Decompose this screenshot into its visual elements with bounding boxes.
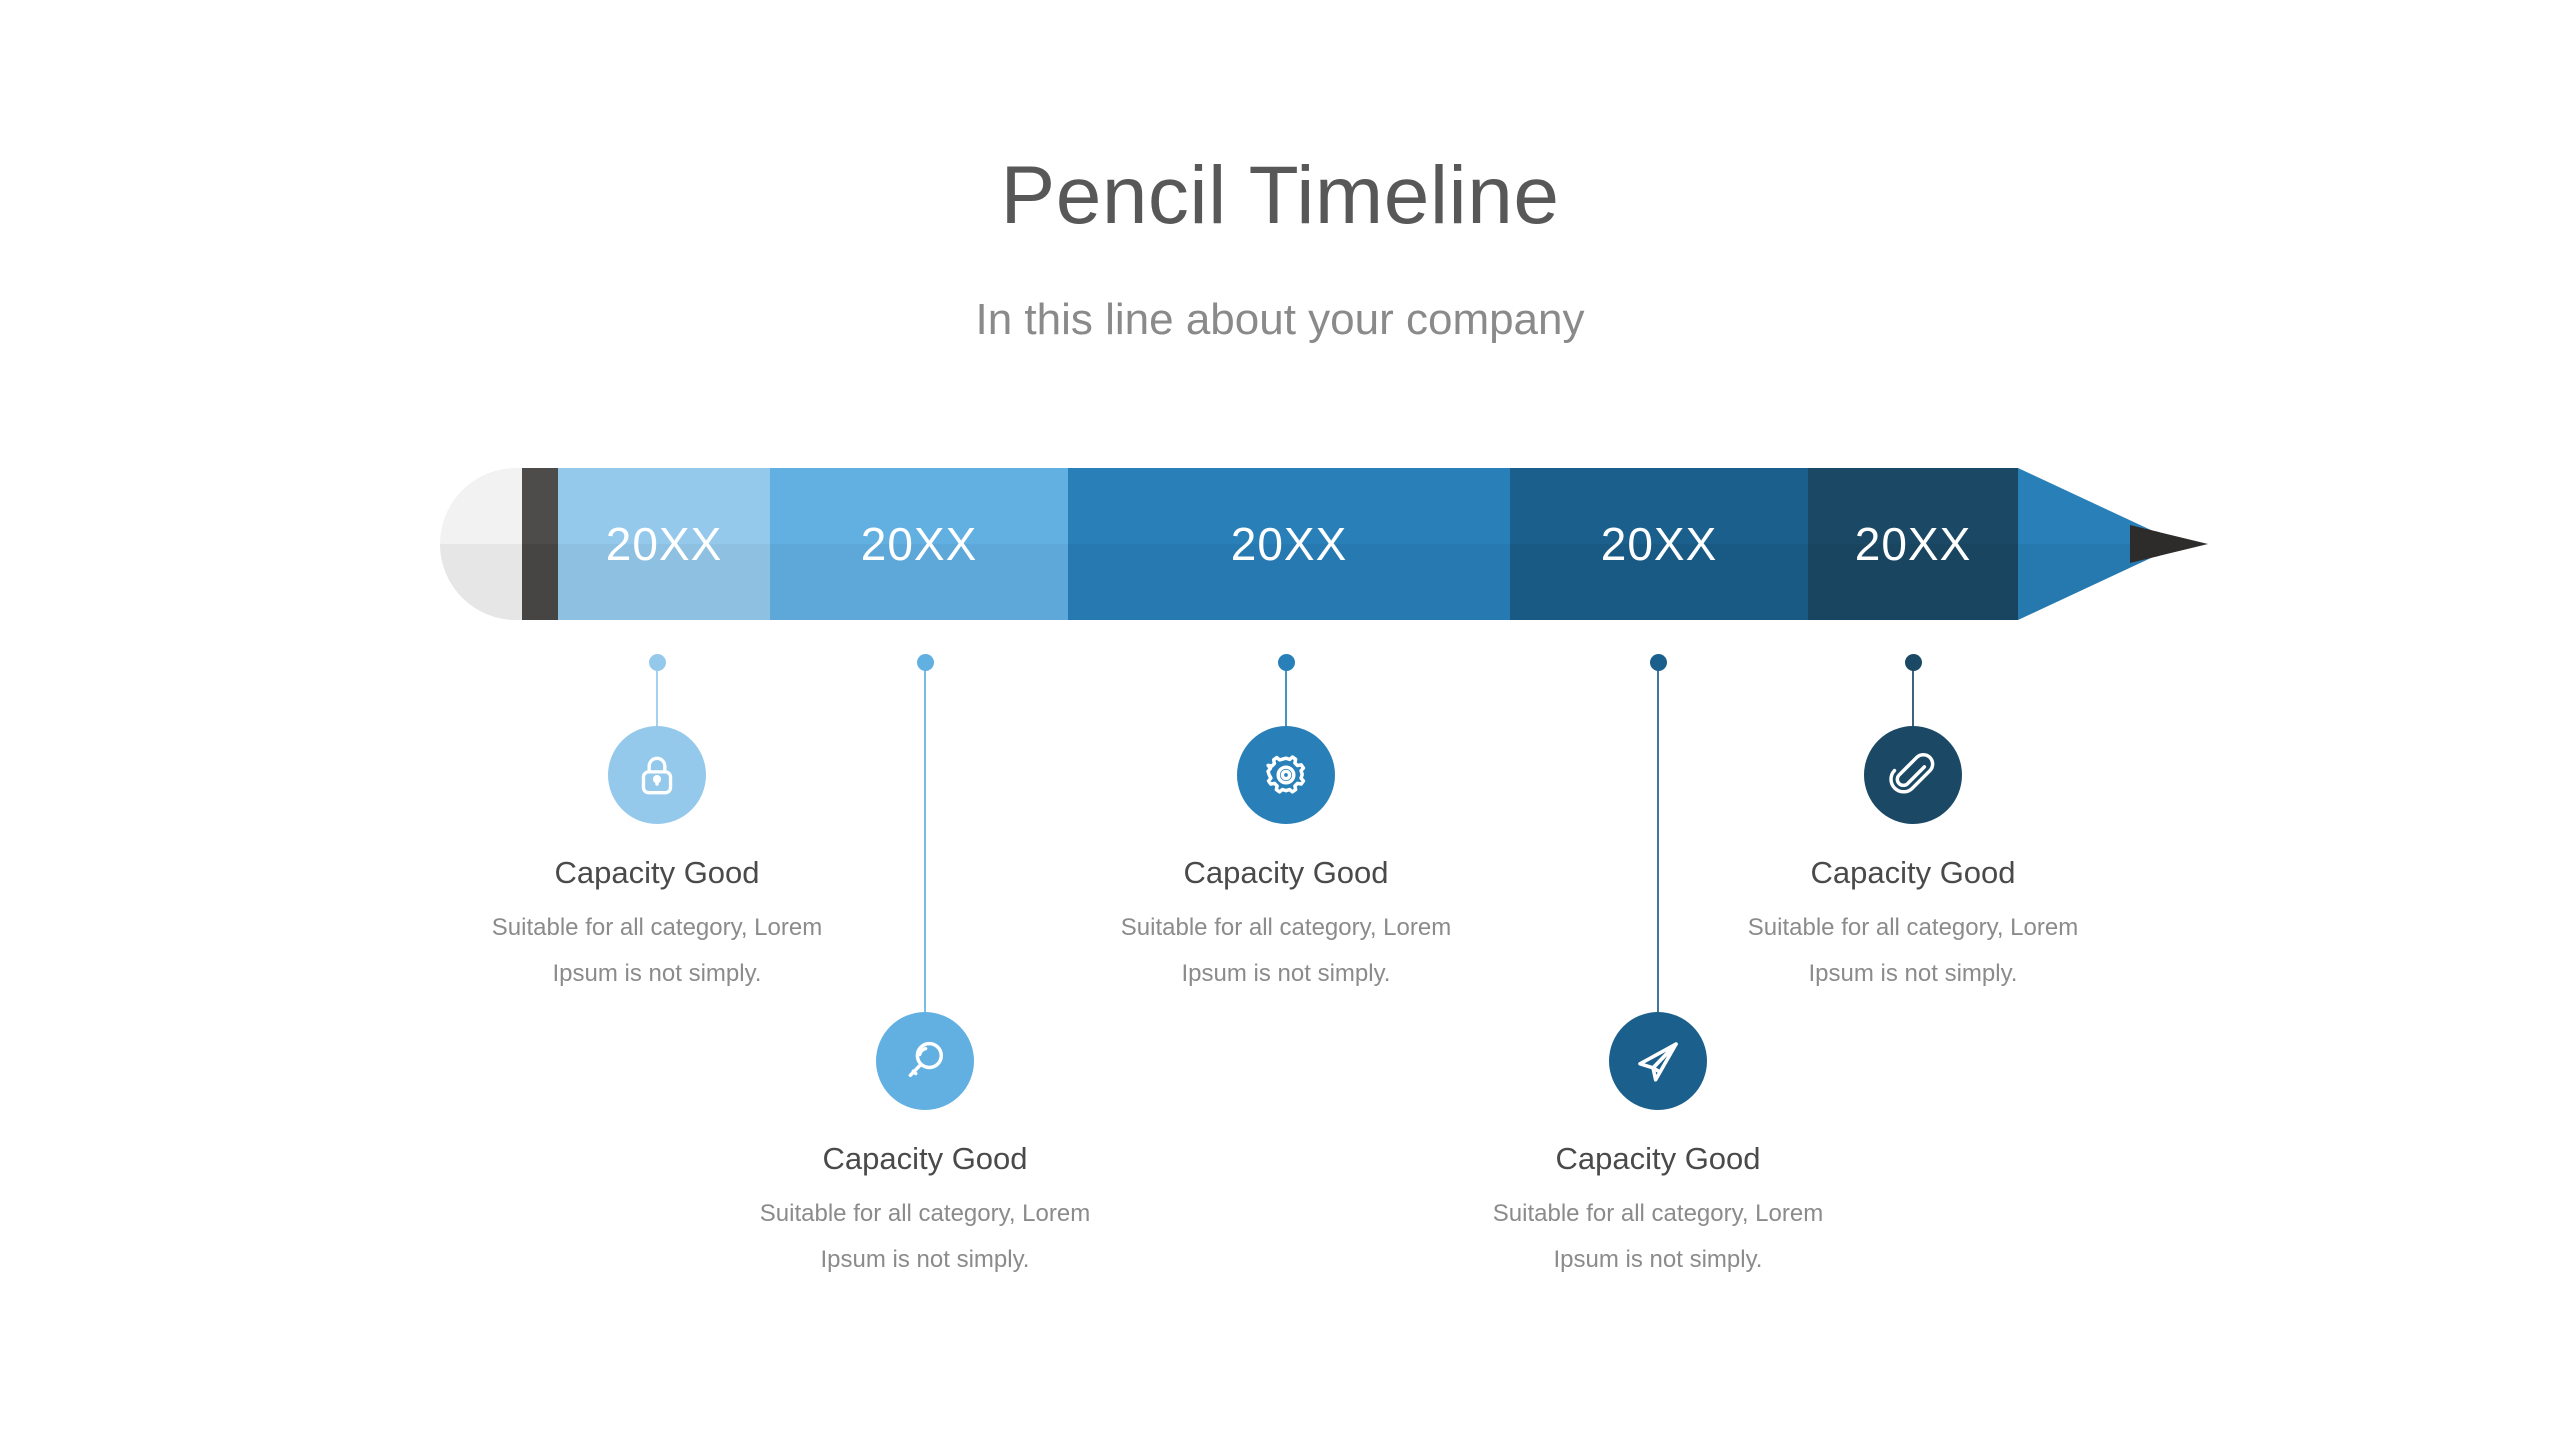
slide-canvas: Pencil Timeline In this line about your … [0, 0, 2560, 1440]
connector-line [1912, 666, 1914, 732]
item-title: Capacity Good [1633, 856, 2193, 890]
timeline-item-5[interactable]: Capacity GoodSuitable for all category, … [0, 0, 2560, 1440]
paperclip-icon-circle[interactable] [1864, 726, 1962, 824]
paperclip-icon [1887, 749, 1939, 801]
item-description-line-1: Suitable for all category, Lorem [1633, 912, 2193, 944]
item-caption: Capacity GoodSuitable for all category, … [1633, 856, 2193, 1005]
item-description-line-2: Ipsum is not simply. [1633, 958, 2193, 990]
